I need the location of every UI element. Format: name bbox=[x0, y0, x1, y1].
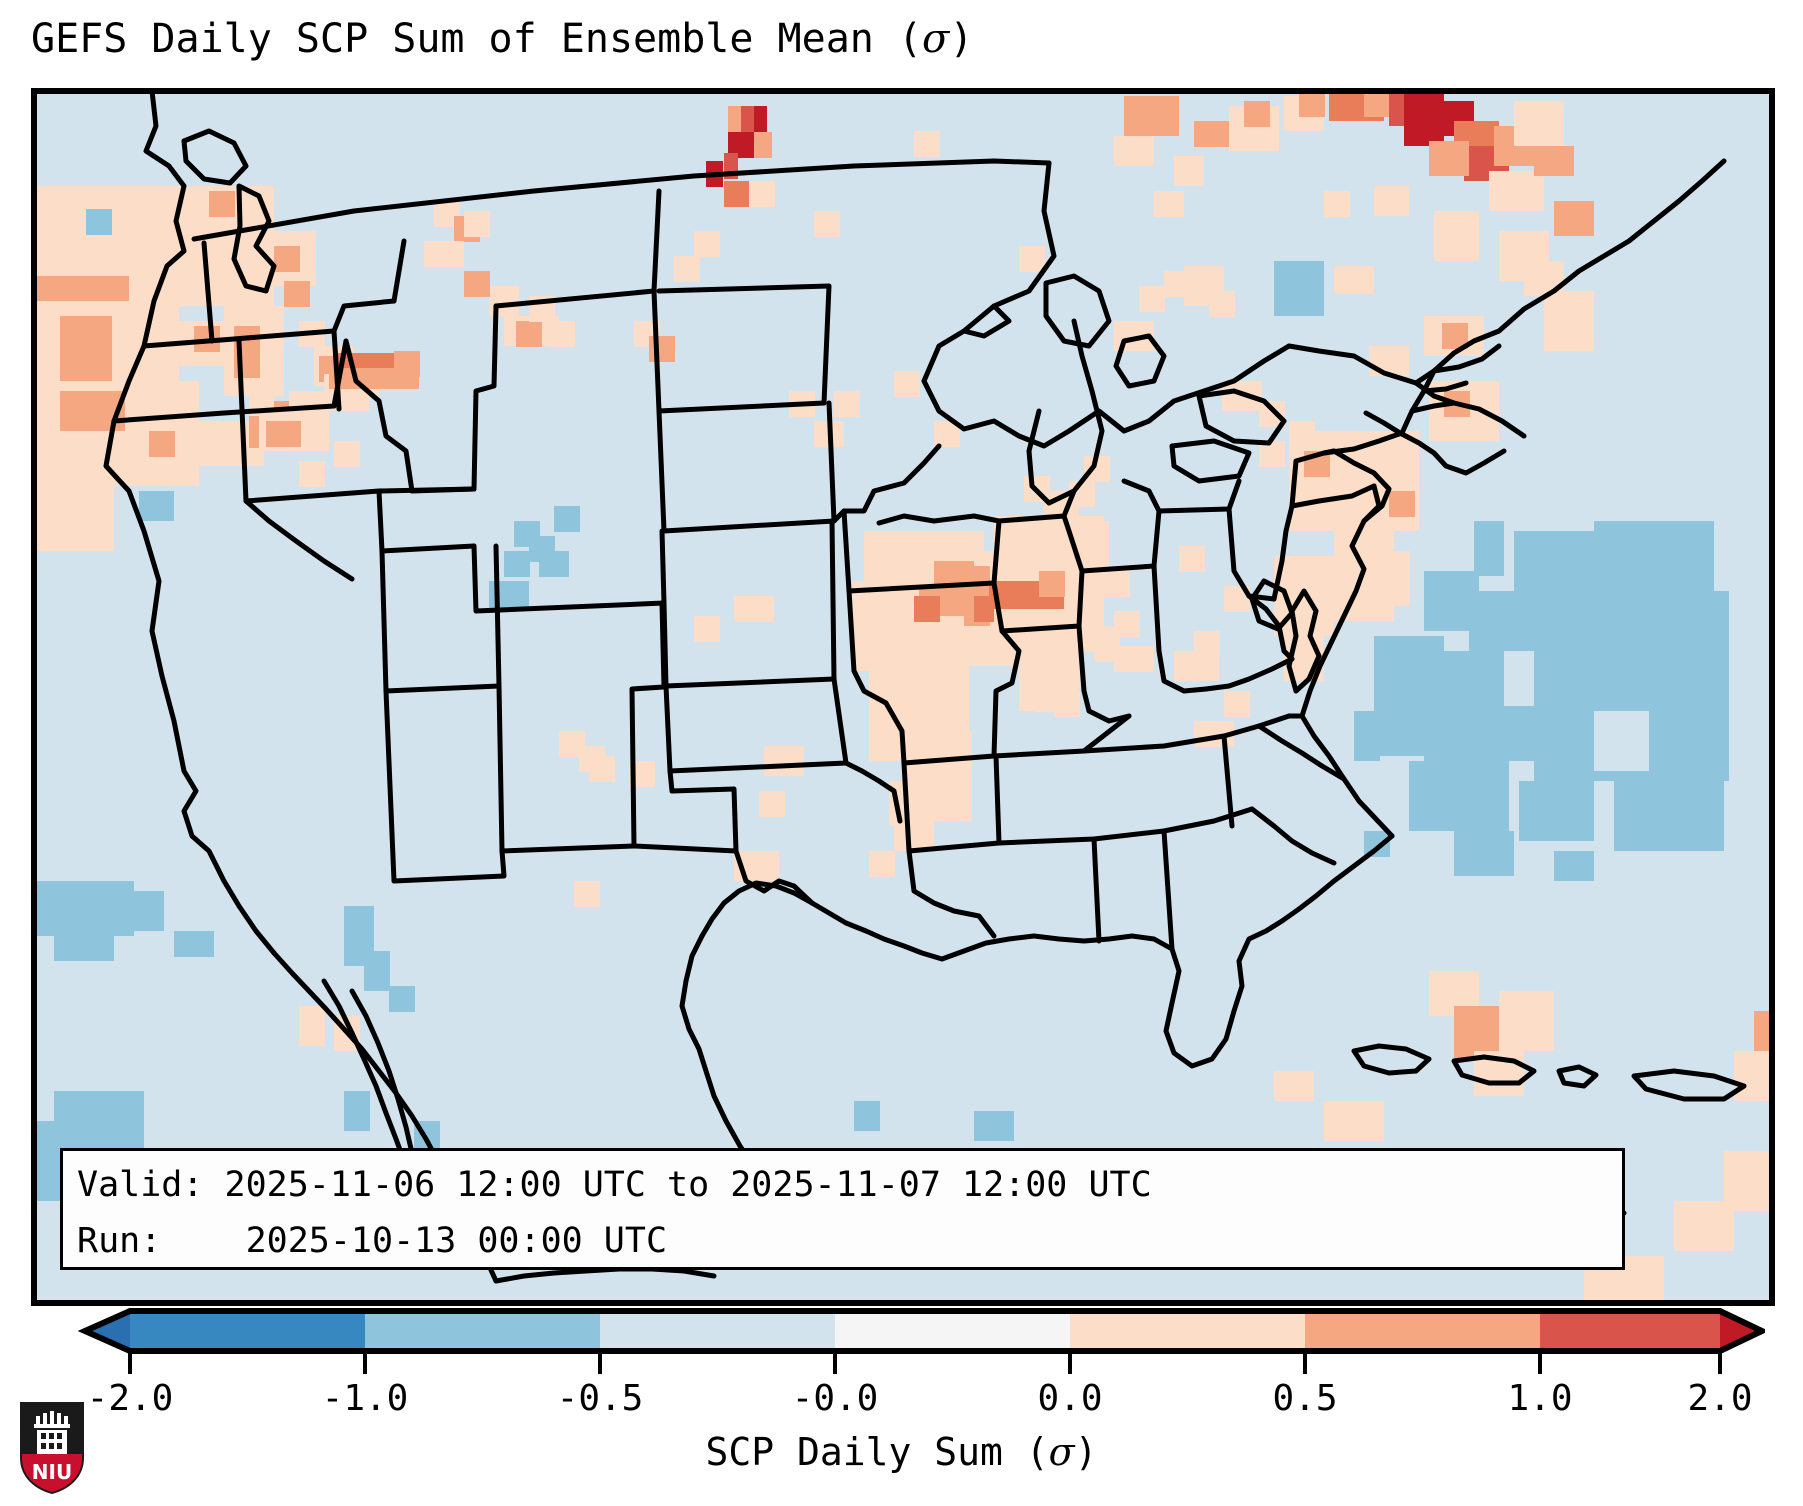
info-box: Valid: 2025-11-06 12:00 UTC to 2025-11-0… bbox=[60, 1148, 1625, 1270]
colorbar-band-2 bbox=[600, 1311, 835, 1351]
colorbar-tick-marks bbox=[40, 1352, 1765, 1378]
map-plot-area[interactable] bbox=[31, 88, 1775, 1306]
colorbar-band-1 bbox=[365, 1311, 600, 1351]
colorbar-band-0 bbox=[130, 1311, 365, 1351]
colorbar-tick-label-6: 1.0 bbox=[1507, 1378, 1572, 1419]
colorbar-tick-label-5: 0.5 bbox=[1272, 1378, 1337, 1419]
valid-time-line: Valid: 2025-11-06 12:00 UTC to 2025-11-0… bbox=[77, 1157, 1608, 1213]
logo-text: NIU bbox=[32, 1460, 72, 1484]
colorbar-tick-label-3: -0.0 bbox=[792, 1378, 879, 1419]
colorbar-tick-label-4: 0.0 bbox=[1037, 1378, 1102, 1419]
colorbar-bands bbox=[85, 1311, 1762, 1351]
colorbar-axis-label: SCP Daily Sum (σ) bbox=[0, 1430, 1803, 1474]
run-time-line: Run: 2025-10-13 00:00 UTC bbox=[77, 1213, 1608, 1269]
colorbar[interactable] bbox=[40, 1308, 1765, 1354]
colorbar-label-prefix: SCP Daily Sum ( bbox=[705, 1430, 1048, 1474]
page-title: GEFS Daily SCP Sum of Ensemble Mean (σ) bbox=[31, 16, 973, 62]
niu-logo: NIU bbox=[16, 1400, 88, 1496]
colorbar-band-6 bbox=[1540, 1311, 1720, 1351]
colorbar-tick-label-1: -1.0 bbox=[322, 1378, 409, 1419]
page-title-suffix: ) bbox=[949, 16, 973, 62]
colorbar-tick-label-0: -2.0 bbox=[87, 1378, 174, 1419]
sigma-symbol-colorbar: σ bbox=[1049, 1430, 1075, 1474]
sigma-symbol-title: σ bbox=[922, 16, 949, 62]
page-title-text: GEFS Daily SCP Sum of Ensemble Mean ( bbox=[31, 16, 922, 62]
colorbar-tick-label-2: -0.5 bbox=[557, 1378, 644, 1419]
colorbar-tick-label-7: 2.0 bbox=[1687, 1378, 1752, 1419]
colorbar-label-suffix: ) bbox=[1075, 1430, 1098, 1474]
map-canvas bbox=[34, 91, 1772, 1303]
colorbar-band-4 bbox=[1070, 1311, 1305, 1351]
colorbar-band-3 bbox=[835, 1311, 1070, 1351]
colorbar-band-5 bbox=[1305, 1311, 1540, 1351]
